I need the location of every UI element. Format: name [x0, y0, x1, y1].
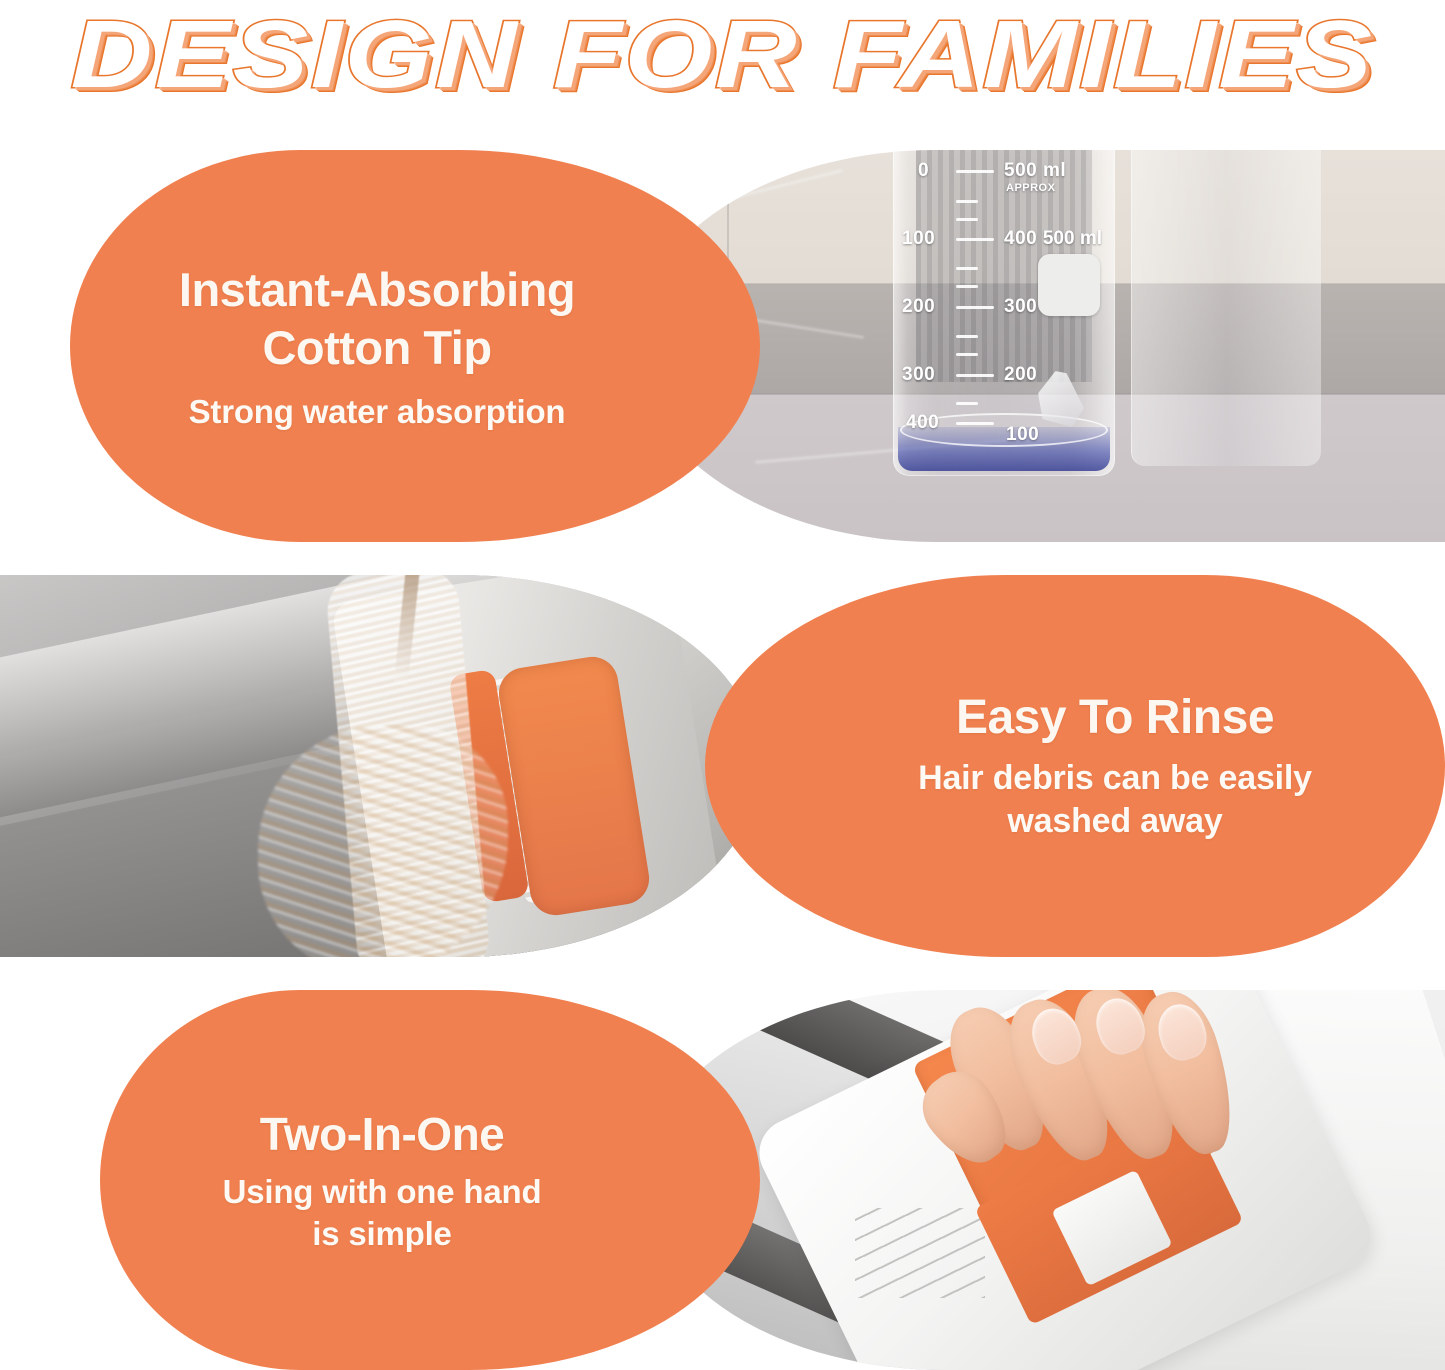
- cup-tick: [956, 374, 994, 377]
- panel-2-photo: [0, 575, 760, 957]
- panel-2-subline-line2: washed away: [918, 800, 1312, 843]
- sink-rinsing-scene: [0, 575, 760, 957]
- water-splash: [258, 725, 508, 957]
- page-title-bar: DESIGN FOR FAMILIES: [0, 0, 1445, 114]
- cup-capacity-label: 500 ml: [1004, 160, 1066, 182]
- cup-scale-left-300: 300: [902, 364, 935, 386]
- marble-vein: [677, 169, 842, 212]
- cup-scale-left-100: 100: [902, 228, 935, 250]
- cup-scale-right-300: 300: [1004, 296, 1037, 318]
- cup-tick: [956, 238, 994, 241]
- panel-1-headline: Instant-Absorbing Cotton Tip: [179, 261, 575, 377]
- cup-scale-right-200: 200: [1004, 364, 1037, 386]
- cup-scale-left-400: 400: [906, 412, 939, 434]
- cup-approx-label: APPROX: [1006, 182, 1055, 194]
- cup-scale-left-200: 200: [902, 296, 935, 318]
- feature-panel-two-in-one: Two-In-One Using with one hand is simple: [0, 990, 1445, 1370]
- cup-tick: [956, 267, 978, 270]
- page-title: DESIGN FOR FAMILIES: [71, 3, 1375, 107]
- second-container: [1131, 150, 1321, 466]
- panel-3-subline: Using with one hand is simple: [223, 1171, 542, 1255]
- panel-3-caption-pill: Two-In-One Using with one hand is simple: [100, 990, 760, 1370]
- feature-panel-instant-absorbing-cotton-tip: 0 100 200 300 400 500 ml APPROX 400 300 …: [0, 150, 1445, 542]
- panel-1-headline-line2: Cotton Tip: [179, 319, 575, 377]
- panel-3-subline-line2: is simple: [223, 1213, 542, 1255]
- cup-tick: [956, 170, 994, 173]
- cup-sticker-text: 500 ml: [1043, 228, 1102, 250]
- cup-sticker: [1038, 254, 1100, 316]
- cup-tick: [956, 306, 994, 309]
- cup-tick: [956, 402, 978, 405]
- panel-1-headline-line1: Instant-Absorbing: [179, 261, 575, 319]
- panel-2-subline-line1: Hair debris can be easily: [918, 757, 1312, 800]
- mop-body-ridges: [855, 1208, 985, 1298]
- cup-scale-left-0: 0: [918, 160, 929, 182]
- cup-scale-right-400: 400: [1004, 228, 1037, 250]
- panel-3-photo: [645, 990, 1445, 1370]
- panel-3-subline-line1: Using with one hand: [223, 1171, 542, 1213]
- panel-2-subline: Hair debris can be easily washed away: [918, 757, 1312, 843]
- cup-tick: [956, 285, 978, 288]
- feature-panel-easy-to-rinse: Easy To Rinse Hair debris can be easily …: [0, 575, 1445, 957]
- cup-tick: [956, 218, 978, 221]
- cup-tick: [956, 422, 994, 425]
- measuring-cup: 0 100 200 300 400 500 ml APPROX 400 300 …: [893, 150, 1115, 476]
- cup-scale-right-100: 100: [1006, 424, 1039, 446]
- cup-tick: [956, 335, 978, 338]
- panel-1-caption-pill: Instant-Absorbing Cotton Tip Strong wate…: [70, 150, 760, 542]
- panel-1-subline: Strong water absorption: [179, 391, 575, 432]
- panel-2-headline: Easy To Rinse: [918, 689, 1312, 747]
- cup-tick: [956, 353, 978, 356]
- panel-3-headline: Two-In-One: [223, 1105, 542, 1163]
- panel-2-caption-pill: Easy To Rinse Hair debris can be easily …: [705, 575, 1445, 957]
- hand-grip-scene: [645, 990, 1445, 1370]
- cup-tick: [956, 200, 978, 203]
